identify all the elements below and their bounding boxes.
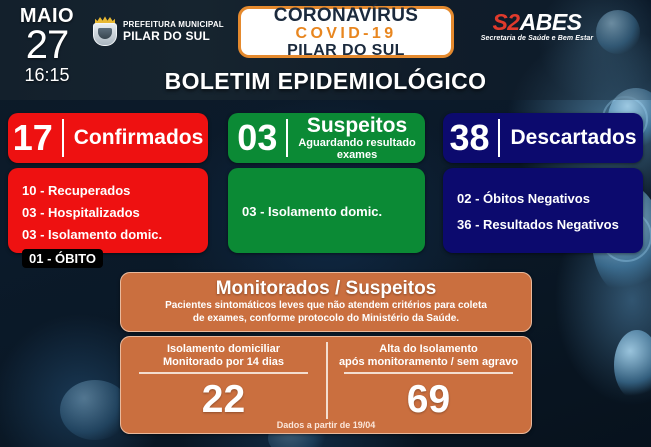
card-confirmados-body: 10 - Recuperados 03 - Hospitalizados 03 … [8,168,208,253]
monitorados-column-alta: Alta do Isolamento após monitoramento / … [326,337,531,433]
banner-line-city: PILAR DO SUL [287,42,405,59]
city-hall-line1: PREFEITURA MUNICIPAL [123,21,224,29]
column-label-line2: Monitorado por 14 dias [163,356,284,369]
epidemiological-bulletin-page: MAIO 27 16:15 PREFEITURA MUNICIPAL PILAR… [0,0,651,447]
card-suspeitos-body: 03 - Isolamento domic. [228,168,425,253]
confirmados-label: Confirmados [74,127,204,149]
suspeitos-sublabel-1: Aguardando resultado [298,137,415,149]
monitorados-alta-value: 69 [407,379,450,421]
column-rule [139,372,307,374]
column-rule [344,372,512,374]
monitorados-body: Isolamento domiciliar Monitorado por 14 … [120,336,532,434]
confirmados-detail: 03 - Hospitalizados [22,202,194,224]
card-descartados-body: 02 - Óbitos Negativos 36 - Resultados Ne… [443,168,643,253]
confirmados-count: 17 [13,120,62,156]
monitorados-footer-note: Dados a partir de 19/04 [121,420,531,430]
confirmados-deaths-badge: 01 - ÓBITO [22,249,103,268]
monitorados-title: Monitorados / Suspeitos [129,278,523,299]
monitorados-subtitle-2: de exames, conforme protocolo do Ministé… [129,312,523,325]
banner-line-coronavirus: CORONAVÍRUS [274,6,418,25]
page-title: BOLETIM EPIDEMIOLÓGICO [0,68,651,95]
suspeitos-sublabel-2: exames [298,149,415,161]
monitorados-header: Monitorados / Suspeitos Pacientes sintom… [120,272,532,332]
suspeitos-detail: 03 - Isolamento domic. [242,201,382,223]
card-descartados: 38 Descartados 02 - Óbitos Negativos 36 … [443,113,643,253]
coronavirus-banner: CORONAVÍRUS COVID-19 PILAR DO SUL [238,6,454,58]
suspeitos-label: Suspeitos [298,115,415,137]
shield-shape [93,23,117,46]
column-label-line1: Alta do Isolamento [379,343,477,356]
card-suspeitos: 03 Suspeitos Aguardando resultado exames… [228,113,425,253]
card-confirmados-header: 17 Confirmados [8,113,208,163]
column-label-line2: após monitoramento / sem agravo [339,356,518,369]
descartados-detail: 02 - Óbitos Negativos [457,186,629,212]
confirmados-detail: 10 - Recuperados [22,180,194,202]
card-descartados-header: 38 Descartados [443,113,643,163]
city-hall-brand: PREFEITURA MUNICIPAL PILAR DO SUL [92,16,224,46]
coat-of-arms-icon [92,16,118,46]
monitorados-isolamento-value: 22 [202,379,245,421]
virus-blob-icon [614,330,651,400]
city-hall-text: PREFEITURA MUNICIPAL PILAR DO SUL [123,21,224,42]
monitorados-column-isolamento: Isolamento domiciliar Monitorado por 14 … [121,337,326,433]
suspeitos-count: 03 [237,120,286,156]
health-logo-mark: S2ABES [478,11,596,34]
date-day: 27 [4,26,90,64]
health-logo-s2: S2 [492,9,519,35]
health-secretary-logo: S2ABES Secretaria de Saúde e Bem Estar [478,11,596,42]
city-hall-line2: PILAR DO SUL [123,30,224,42]
panel-monitorados: Monitorados / Suspeitos Pacientes sintom… [120,272,532,440]
suspeitos-label-wrap: Suspeitos Aguardando resultado exames [288,115,415,161]
card-confirmados: 17 Confirmados 10 - Recuperados 03 - Hos… [8,113,208,253]
column-label-line1: Isolamento domiciliar [167,343,280,356]
page-header: MAIO 27 16:15 PREFEITURA MUNICIPAL PILAR… [0,0,651,100]
health-logo-abes: ABES [520,9,582,35]
monitorados-subtitle-1: Pacientes sintomáticos leves que não ate… [129,299,523,312]
descartados-count: 38 [449,120,498,156]
confirmados-label-wrap: Confirmados [64,127,204,149]
health-logo-tagline: Secretaria de Saúde e Bem Estar [478,35,596,42]
descartados-label-wrap: Descartados [500,127,636,149]
descartados-label: Descartados [510,127,636,149]
banner-line-covid19: COVID-19 [296,25,397,42]
card-suspeitos-header: 03 Suspeitos Aguardando resultado exames [228,113,425,163]
descartados-detail: 36 - Resultados Negativos [457,212,629,238]
confirmados-detail: 03 - Isolamento domic. [22,224,194,246]
